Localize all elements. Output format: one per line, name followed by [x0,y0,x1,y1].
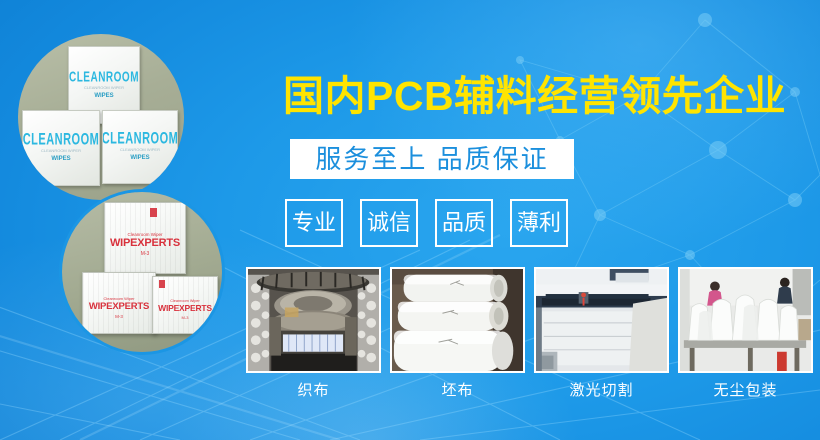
value-tag-label: 专业 [292,212,336,234]
process-thumbnail-weaving: 织布 [246,267,381,398]
product-circle-wipexperts: Cleanroom Wiper WIPEXPERTS M-3 Cleanroom… [62,192,222,352]
product-pack: Cleanroom Wiper WIPEXPERTS M-3 [104,202,186,274]
product-pack: CLEANROOM CLEANROOM WIPER WIPES [22,110,100,186]
pack-brand-label: CLEANROOM [69,69,139,86]
value-tag-integrity: 诚信 [360,199,418,247]
page-title: 国内PCB辅料经营领先企业 [283,76,786,117]
knitting-machine-photo [248,269,379,371]
greige-fabric-rolls-photo [392,269,523,371]
value-tag-label: 诚信 [367,212,411,234]
pack-sub-label: WIPES [130,155,149,161]
thumbnail-frame [246,267,381,373]
process-thumbnail-label: 激光切割 [534,383,669,398]
pack-brand-label: CLEANROOM [23,131,100,149]
product-pack: Cleanroom Wiper WIPEXPERTS M-3 [152,276,218,334]
value-tag-label: 薄利 [517,212,561,234]
red-stamp-icon [159,280,165,288]
value-tag-low-margin: 薄利 [510,199,568,247]
pack-code-label: M-3 [115,314,123,319]
pack-code-label: M-3 [182,315,189,320]
process-thumbnail-list: 织布 [246,267,813,398]
pack-sub-label: WIPES [51,156,70,162]
product-pack: Cleanroom Wiper WIPEXPERTS M-3 [82,272,156,334]
pack-brand-label: CLEANROOM [102,130,178,148]
subtitle-banner: 服务至上 品质保证 [290,139,574,179]
product-circle-cleanroom: CLEANROOM CLEANROOM WIPER WIPES CLEANROO… [18,34,184,200]
red-stamp-icon [150,208,157,217]
cleanroom-packaging-photo [680,269,811,371]
process-thumbnail-label: 坯布 [390,383,525,398]
wipexperts-packs-photo: Cleanroom Wiper WIPEXPERTS M-3 Cleanroom… [62,192,222,352]
pack-brand-label: WIPEXPERTS [89,301,149,312]
pack-brand-label: WIPEXPERTS [158,303,212,313]
process-thumbnail-greige-fabric: 坯布 [390,267,525,398]
process-thumbnail-laser-cutting: 激光切割 [534,267,669,398]
value-tag-list: 专业 诚信 品质 薄利 [285,199,568,247]
value-tag-professional: 专业 [285,199,343,247]
promo-banner: CLEANROOM CLEANROOM WIPER WIPES CLEANROO… [0,0,820,440]
value-tag-label: 品质 [442,212,486,234]
pack-code-label: M-3 [141,251,150,257]
thumbnail-frame [678,267,813,373]
pack-sub-label: WIPES [94,93,113,99]
product-pack: CLEANROOM CLEANROOM WIPER WIPES [102,110,178,184]
process-thumbnail-label: 织布 [246,383,381,398]
laser-cutting-machine-photo [536,269,667,371]
subtitle-text: 服务至上 品质保证 [315,146,548,172]
thumbnail-frame [390,267,525,373]
pack-brand-label: WIPEXPERTS [110,237,180,249]
value-tag-quality: 品质 [435,199,493,247]
thumbnail-frame [534,267,669,373]
cleanroom-wipes-photo: CLEANROOM CLEANROOM WIPER WIPES CLEANROO… [18,34,184,200]
process-thumbnail-label: 无尘包装 [678,383,813,398]
process-thumbnail-cleanroom-packaging: 无尘包装 [678,267,813,398]
